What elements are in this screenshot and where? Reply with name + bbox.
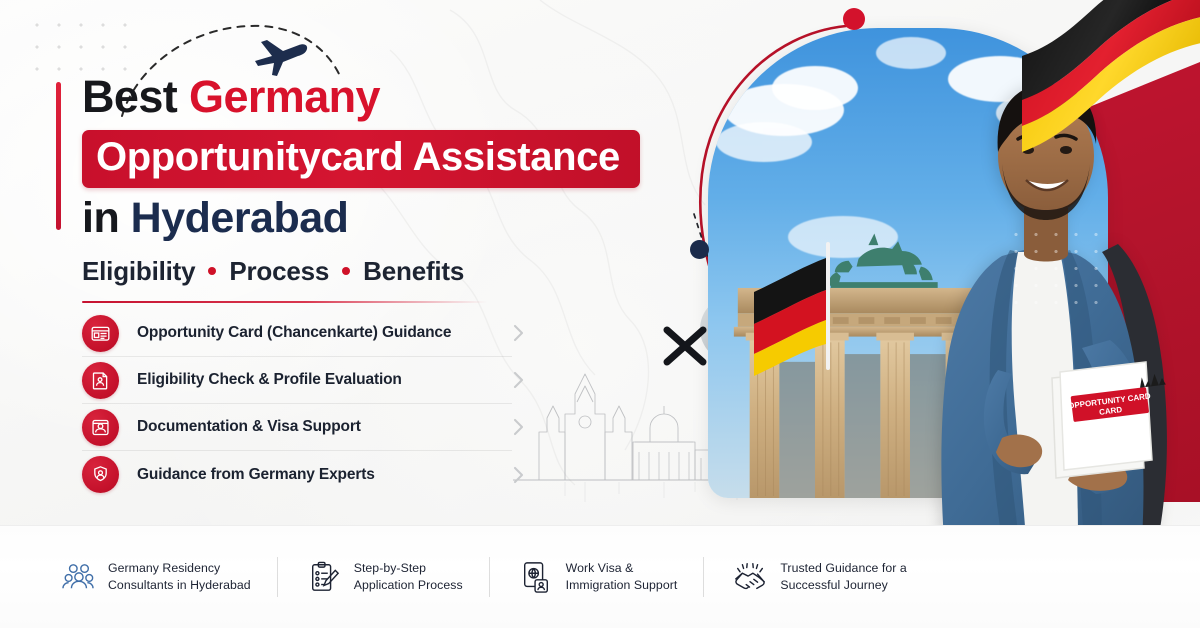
clipboard-pen-icon [304,561,344,593]
visa-document-icon [82,409,119,446]
footer-divider [703,557,704,597]
footer-strip: Germany Residency Consultants in Hyderab… [0,525,1200,628]
chevron-right-icon[interactable] [512,371,526,389]
footer-item-text: Trusted Guidance for a Successful Journe… [780,560,906,595]
footer-divider [489,557,490,597]
feature-row[interactable]: Opportunity Card (Chancenkarte) Guidance [82,310,512,357]
chevron-right-icon[interactable] [512,466,526,484]
footer-item-work-visa[interactable]: Work Visa & Immigration Support [516,560,678,595]
promo-banner: Best Germany Opportunitycard Assistance … [0,0,1200,628]
footer-line-2: Successful Journey [780,578,888,592]
footer-item-trusted-guidance[interactable]: Trusted Guidance for a Successful Journe… [730,560,906,595]
footer-item-text: Germany Residency Consultants in Hyderab… [108,560,251,595]
red-dot-marker [843,8,865,30]
footer-line-2: Application Process [354,578,463,592]
subline-item-process: Process [229,256,329,287]
headline-best: Best [82,71,189,122]
bullet-dot-icon [342,267,350,275]
footer-line-1: Step-by-Step [354,561,426,575]
footer-item-text: Step-by-Step Application Process [354,560,463,595]
subline-item-eligibility: Eligibility [82,256,195,287]
footer-item-application-process[interactable]: Step-by-Step Application Process [304,560,463,595]
headline-in: in [82,194,131,242]
feature-label: Opportunity Card (Chancenkarte) Guidance [137,324,451,342]
feature-row[interactable]: Documentation & Visa Support [82,404,512,451]
footer-item-text: Work Visa & Immigration Support [566,560,678,595]
headline-hyderabad: Hyderabad [131,194,349,242]
footer-items: Germany Residency Consultants in Hyderab… [0,557,907,597]
headline-germany: Germany [189,71,380,122]
dot-grid-on-crimson [1006,226,1102,304]
subline-item-benefits: Benefits [363,256,464,287]
chevron-right-icon[interactable] [512,324,526,342]
passport-visa-icon [516,561,556,593]
footer-line-1: Germany Residency [108,561,220,575]
german-flag-handheld [742,236,872,376]
handshake-icon [730,561,770,593]
footer-divider [277,557,278,597]
footer-item-residency-consultants[interactable]: Germany Residency Consultants in Hyderab… [58,560,251,595]
expert-advisor-icon [82,456,119,493]
x-marker-icon [662,325,708,367]
hero-composition: OPPORTUNITY CARD CARD [680,0,1200,540]
feature-label: Guidance from Germany Experts [137,466,375,484]
eligibility-checklist-icon [82,362,119,399]
bullet-dot-icon [208,267,216,275]
headline-highlight-band: Opportunitycard Assistance [82,130,640,188]
headline-line-1: Best Germany [82,74,640,121]
feature-row[interactable]: Guidance from Germany Experts [82,451,512,498]
footer-line-1: Trusted Guidance for a [780,561,906,575]
headline-line-3: in Hyderabad [82,196,640,242]
people-group-icon [58,562,98,592]
footer-line-2: Immigration Support [566,578,678,592]
headline-block: Best Germany Opportunitycard Assistance … [82,74,640,303]
chevron-right-icon[interactable] [512,418,526,436]
footer-line-1: Work Visa & [566,561,634,575]
feature-label: Eligibility Check & Profile Evaluation [137,371,402,389]
german-flag-large [976,0,1200,186]
headline-accent-bar [56,82,61,230]
footer-line-2: Consultants in Hyderabad [108,578,251,592]
subline: Eligibility Process Benefits [82,256,640,287]
feature-list: Opportunity Card (Chancenkarte) Guidance… [82,310,512,498]
navy-dot-marker [690,240,709,259]
cloud [772,66,858,110]
cloud [716,122,812,162]
subline-divider [82,301,487,303]
feature-row[interactable]: Eligibility Check & Profile Evaluation [82,357,512,404]
opportunity-card-icon [82,315,119,352]
feature-label: Documentation & Visa Support [137,418,361,436]
